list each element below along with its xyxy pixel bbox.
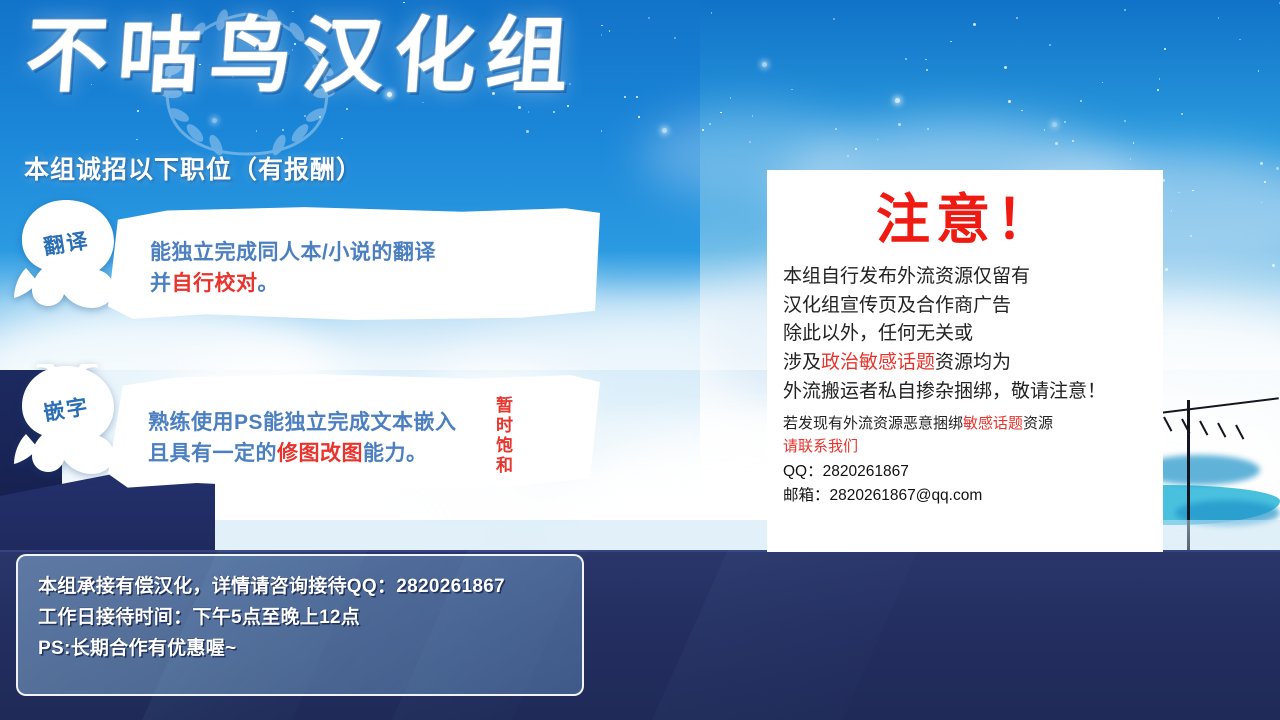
plain-text: 除此以外，任何无关或 xyxy=(783,323,973,344)
sparkle-dot xyxy=(1218,17,1220,19)
page-subtitle: 本组诚招以下职位（有报酬） xyxy=(24,150,362,186)
sparkle-dot xyxy=(833,18,835,20)
highlighted-text: 请联系我们 xyxy=(783,438,858,455)
sparkle-dot xyxy=(638,116,640,118)
sparkle-dot xyxy=(1124,120,1126,122)
notice-panel: 注意！ 本组自行发布外流资源仅留有汉化组宣传页及合作商广告除此以外，任何无关或涉… xyxy=(767,170,1163,552)
ribbon-line: 熟练使用PS能独立完成文本嵌入 xyxy=(148,407,600,439)
sparkle-dot xyxy=(709,123,711,125)
plain-text: 外流搬运者私自掺杂捆绑，敬请注意！ xyxy=(783,381,1106,402)
ribbon-text-area: 熟练使用PS能独立完成文本嵌入 且具有一定的修图改图能力。 xyxy=(108,374,600,490)
poster-canvas: 不咕鸟汉化组 本组诚招以下职位（有报酬） 翻译 能独立完成同人本/小说的翻译 并… xyxy=(0,0,1280,720)
plain-text: 熟练使用PS能独立完成文本嵌入 xyxy=(148,411,457,434)
sparkle-dot xyxy=(1130,158,1132,160)
plain-text: 资源均为 xyxy=(935,352,1011,373)
sparkle-dot xyxy=(1049,44,1051,46)
info-line: 本组承接有偿汉化，详情请咨询接待QQ：2820261867 xyxy=(38,572,562,603)
sparkle-dot xyxy=(973,23,976,26)
info-line: 工作日接待时间：下午5点至晚上12点 xyxy=(38,603,562,634)
sparkle-dot xyxy=(624,96,626,98)
ribbon-line: 并自行校对。 xyxy=(150,268,600,300)
sparkle-dot xyxy=(847,155,849,157)
sparkle-dot xyxy=(1157,89,1159,91)
sparkle-dot xyxy=(674,37,676,39)
plain-text: 涉及 xyxy=(783,352,821,373)
sparkle-dot xyxy=(855,148,857,150)
sparkle-dot xyxy=(927,128,929,130)
plain-text: 本组自行发布外流资源仅留有 xyxy=(783,266,1030,287)
notice-contact-info: QQ：2820261867邮箱：2820261867@qq.com xyxy=(783,460,1149,508)
ribbon-line: 且具有一定的修图改图能力。 xyxy=(148,438,600,470)
ribbon-line: 能独立完成同人本/小说的翻译 xyxy=(150,237,600,269)
sparkle-dot xyxy=(1124,9,1126,11)
plain-text: 汉化组宣传页及合作商广告 xyxy=(783,295,1011,316)
sparkle-dot xyxy=(518,106,521,109)
commission-info-box: 本组承接有偿汉化，详情请咨询接待QQ：2820261867 工作日接待时间：下午… xyxy=(16,554,584,696)
sparkle-dot xyxy=(1016,17,1018,19)
plain-text: 若发现有外流资源恶意捆绑 xyxy=(783,415,963,432)
plain-text: 资源 xyxy=(1023,415,1053,432)
sparkle-dot xyxy=(1052,122,1057,127)
sparkle-dot xyxy=(835,128,837,130)
highlighted-text: 政治敏感话题 xyxy=(821,352,935,373)
ribbon-text-area: 能独立完成同人本/小说的翻译 并自行校对。 xyxy=(108,206,600,320)
sparkle-dot xyxy=(1181,113,1183,115)
sparkle-dot xyxy=(1190,235,1192,237)
highlighted-text: 修图改图 xyxy=(277,442,363,465)
sparkle-dot xyxy=(636,96,638,98)
sparkle-dot xyxy=(1072,140,1074,142)
sparkle-dot xyxy=(1064,121,1066,123)
plain-text: 。 xyxy=(258,272,280,295)
sparkle-dot xyxy=(1055,142,1058,145)
notice-small-print: 若发现有外流资源恶意捆绑敏感话题资源请联系我们 xyxy=(783,413,1149,458)
highlighted-text: 自行校对 xyxy=(172,272,258,295)
sparkle-dot xyxy=(926,69,928,71)
sparkle-dot xyxy=(346,108,348,110)
sparkle-dot xyxy=(1164,48,1166,50)
sparkle-dot xyxy=(762,62,767,67)
sparkle-dot xyxy=(1008,100,1011,103)
job-role-label: 嵌字 xyxy=(4,356,128,484)
notice-line: 外流搬运者私自掺杂捆绑，敬请注意！ xyxy=(783,378,1149,407)
job-description-ribbon: 熟练使用PS能独立完成文本嵌入 且具有一定的修图改图能力。 暂时饱和 xyxy=(108,374,600,490)
notice-contact-line: 邮箱：2820261867@qq.com xyxy=(783,484,1149,508)
notice-line: 汉化组宣传页及合作商广告 xyxy=(783,292,1149,321)
notice-contact-line: QQ：2820261867 xyxy=(783,460,1149,484)
notice-line: 涉及政治敏感话题资源均为 xyxy=(783,349,1149,378)
highlighted-text: 敏感话题 xyxy=(963,415,1023,432)
notice-body: 本组自行发布外流资源仅留有汉化组宣传页及合作商广告除此以外，任何无关或涉及政治敏… xyxy=(783,263,1149,407)
sparkle-dot xyxy=(702,129,704,131)
sparkle-dot xyxy=(925,59,927,61)
job-description-ribbon: 能独立完成同人本/小说的翻译 并自行校对。 xyxy=(108,206,600,320)
notice-small-line: 请联系我们 xyxy=(783,436,1149,459)
plain-text: 并 xyxy=(150,272,172,295)
plain-text: 能力。 xyxy=(363,442,428,465)
sparkle-dot xyxy=(1080,100,1082,102)
plain-text: 且具有一定的 xyxy=(148,442,277,465)
info-line: PS:长期合作有优惠喔~ xyxy=(38,634,562,665)
notice-line: 本组自行发布外流资源仅留有 xyxy=(783,263,1149,292)
notice-line: 除此以外，任何无关或 xyxy=(783,320,1149,349)
sparkle-dot xyxy=(567,105,569,107)
status-badge-saturated: 暂时饱和 xyxy=(492,396,512,476)
sparkle-dot xyxy=(1264,181,1266,183)
notice-small-line: 若发现有外流资源恶意捆绑敏感话题资源 xyxy=(783,413,1149,436)
notice-title: 注意！ xyxy=(783,192,1149,249)
sparkle-dot xyxy=(648,17,650,19)
sparkle-dot xyxy=(1044,129,1046,131)
sparkle-dot xyxy=(662,128,667,133)
plain-text: 能独立完成同人本/小说的翻译 xyxy=(150,241,436,264)
page-title: 不咕鸟汉化组 xyxy=(23,14,581,100)
